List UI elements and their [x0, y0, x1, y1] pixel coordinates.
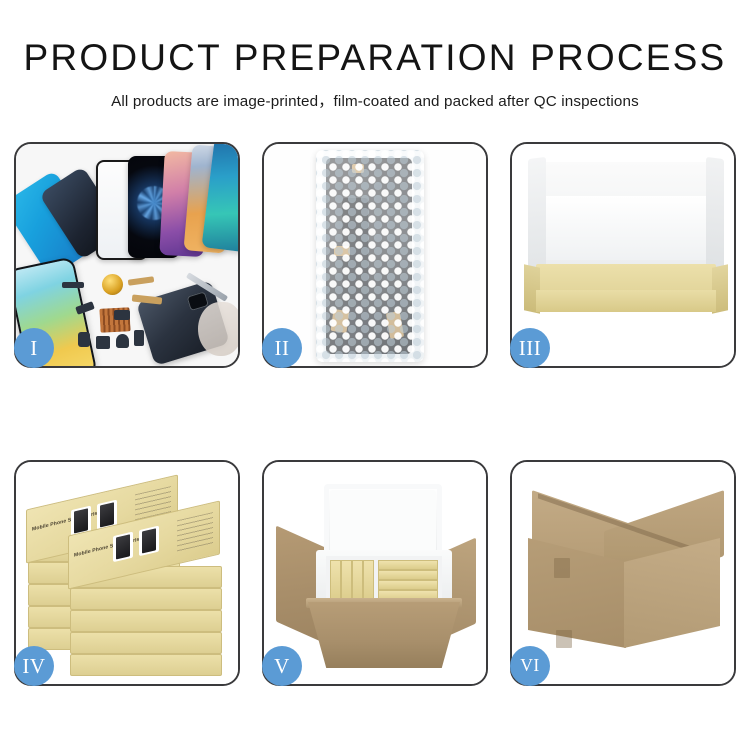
packed-box-6 [378, 570, 438, 580]
small-part-chip-2 [78, 332, 90, 347]
page-title: PRODUCT PREPARATION PROCESS [0, 38, 750, 78]
yellow-inner-box [536, 264, 716, 312]
box-front-face [536, 290, 716, 312]
product-preparation-process-page: PRODUCT PREPARATION PROCESS All products… [0, 0, 750, 750]
small-part-chip-1 [62, 282, 84, 288]
packed-box-4 [363, 560, 374, 602]
box-stack: Mobile Phone Spare Parts Mobile Phone Sp… [24, 480, 236, 670]
process-step-2[interactable]: II [262, 142, 488, 368]
step-3-badge: III [510, 328, 550, 368]
process-step-1[interactable]: I [14, 142, 240, 368]
carton-flap-tab-upper [554, 558, 570, 578]
small-part-chip-3 [96, 336, 110, 349]
process-step-5[interactable]: V [262, 460, 488, 686]
step-5-badge: V [262, 646, 302, 686]
stacked-box-edge-9 [70, 632, 222, 654]
box-lid-phone-image-4 [139, 526, 159, 557]
packed-box-7 [378, 580, 438, 590]
step-2-image [264, 144, 486, 366]
step-2-badge: II [262, 328, 302, 368]
step-6-image [512, 462, 734, 684]
packed-box-3 [352, 560, 363, 602]
box-lid-phone-image-3 [113, 532, 133, 563]
packed-box-5 [378, 560, 438, 570]
step-1-image [16, 144, 238, 366]
stacked-box-edge-10 [70, 654, 222, 676]
step-3-image [512, 144, 734, 366]
carton-flap-tab-lower [556, 630, 572, 648]
step-4-badge: IV [14, 646, 54, 686]
process-step-3[interactable]: III [510, 142, 736, 368]
foam-box-lid [324, 484, 442, 558]
stacked-box-edge-7 [70, 588, 222, 610]
process-step-6[interactable]: VI [510, 460, 736, 686]
process-step-4[interactable]: Mobile Phone Spare Parts Mobile Phone Sp… [14, 460, 240, 686]
small-part-chip-6 [134, 330, 144, 346]
speaker-module-part [102, 274, 123, 295]
header: PRODUCT PREPARATION PROCESS All products… [0, 0, 750, 111]
flex-cable-1 [128, 276, 155, 286]
packed-box-1 [330, 560, 341, 602]
stacked-box-edge-8 [70, 610, 222, 632]
foam-box-cavity [326, 556, 442, 604]
foam-pad [546, 196, 706, 260]
small-part-chip-4 [116, 334, 129, 348]
process-step-grid: I II [14, 142, 736, 686]
box-lid-spec-lines-second [177, 512, 213, 552]
bubble-wrap-film [316, 150, 424, 362]
packed-box-2 [341, 560, 352, 602]
step-4-image: Mobile Phone Spare Parts Mobile Phone Sp… [16, 462, 238, 684]
page-subtitle: All products are image-printed，film-coat… [0, 89, 750, 111]
small-part-chip-5 [114, 310, 130, 320]
step-6-badge: VI [510, 646, 550, 686]
technician-hand [198, 302, 238, 356]
step-5-image [264, 462, 486, 684]
carton-body [308, 602, 460, 668]
step-1-badge: I [14, 328, 54, 368]
